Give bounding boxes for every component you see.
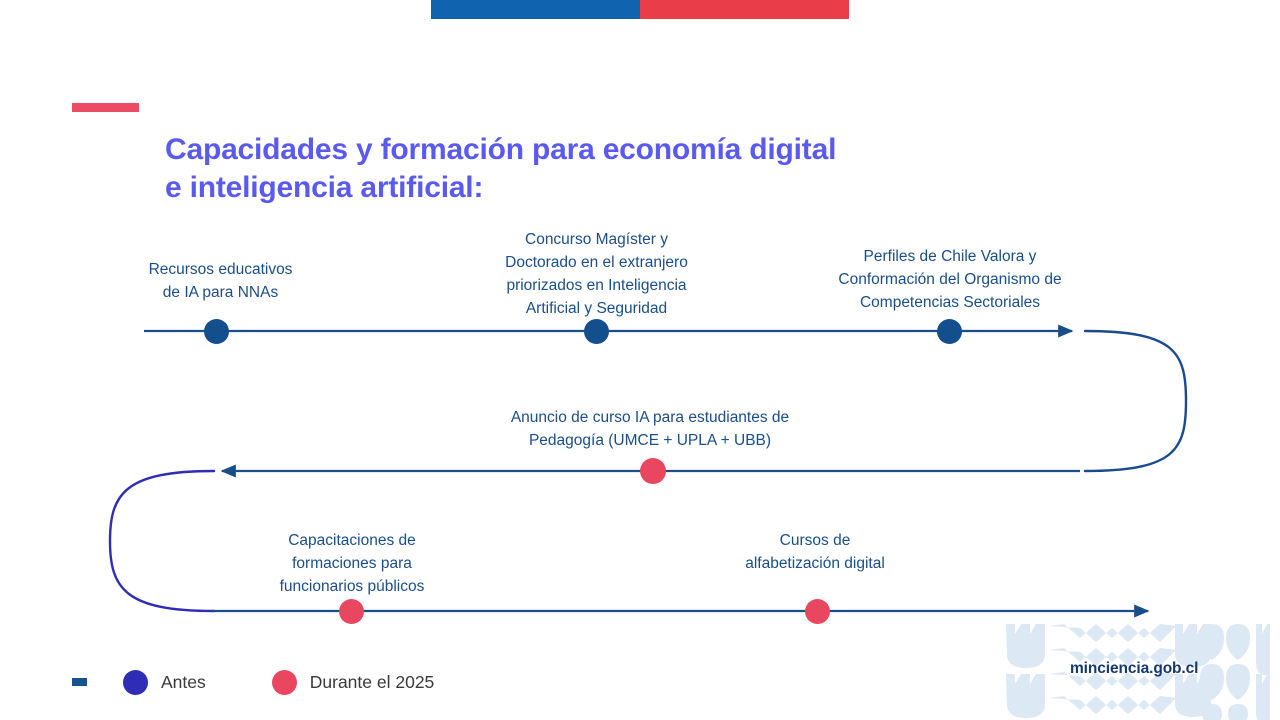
timeline-dot-recursos-educativos[interactable] [204, 319, 229, 344]
timeline-label-concurso-magister: Concurso Magíster y Doctorado en el extr… [474, 228, 719, 320]
timeline-dot-cursos-alfabetizacion[interactable] [805, 599, 830, 624]
timeline-label-perfiles-chile-valora: Perfiles de Chile Valora y Conformación … [800, 245, 1100, 314]
timeline-dot-anuncio-curso-ia[interactable] [640, 458, 666, 484]
legend-item-antes[interactable]: Antes [123, 670, 206, 695]
timeline-label-cursos-alfabetizacion: Cursos de alfabetización digital [715, 529, 915, 575]
legend-label-durante-2025: Durante el 2025 [310, 672, 435, 693]
timeline-dot-concurso-magister[interactable] [584, 319, 609, 344]
legend-dash-icon [72, 678, 87, 686]
timeline-label-capacitaciones-funcionarios: Capacitaciones de formaciones para funci… [252, 529, 452, 598]
timeline-dot-perfiles-chile-valora[interactable] [937, 319, 962, 344]
footer-logo: minciencia.gob.cl [1000, 622, 1270, 720]
top-flag-bar [431, 0, 849, 19]
legend-item-durante-2025[interactable]: Durante el 2025 [272, 670, 435, 695]
flag-segment-red [640, 0, 849, 19]
legend: Antes Durante el 2025 [72, 660, 500, 704]
page-title: Capacidades y formación para economía di… [165, 131, 1065, 207]
flag-segment-blue [431, 0, 640, 19]
legend-label-antes: Antes [161, 672, 206, 693]
legend-dot-durante-icon [272, 670, 297, 695]
timeline-curve-right [1085, 331, 1186, 471]
timeline-curve-left [110, 471, 214, 611]
timeline-label-recursos-educativos: Recursos educativos de IA para NNAs [113, 258, 328, 304]
timeline-label-anuncio-curso-ia: Anuncio de curso IA para estudiantes de … [470, 406, 830, 452]
timeline-graphic [0, 0, 1280, 720]
accent-bar [72, 103, 139, 112]
legend-dot-antes-icon [123, 670, 148, 695]
logo-url-text: minciencia.gob.cl [1070, 660, 1198, 678]
timeline-dot-capacitaciones-funcionarios[interactable] [339, 599, 364, 624]
